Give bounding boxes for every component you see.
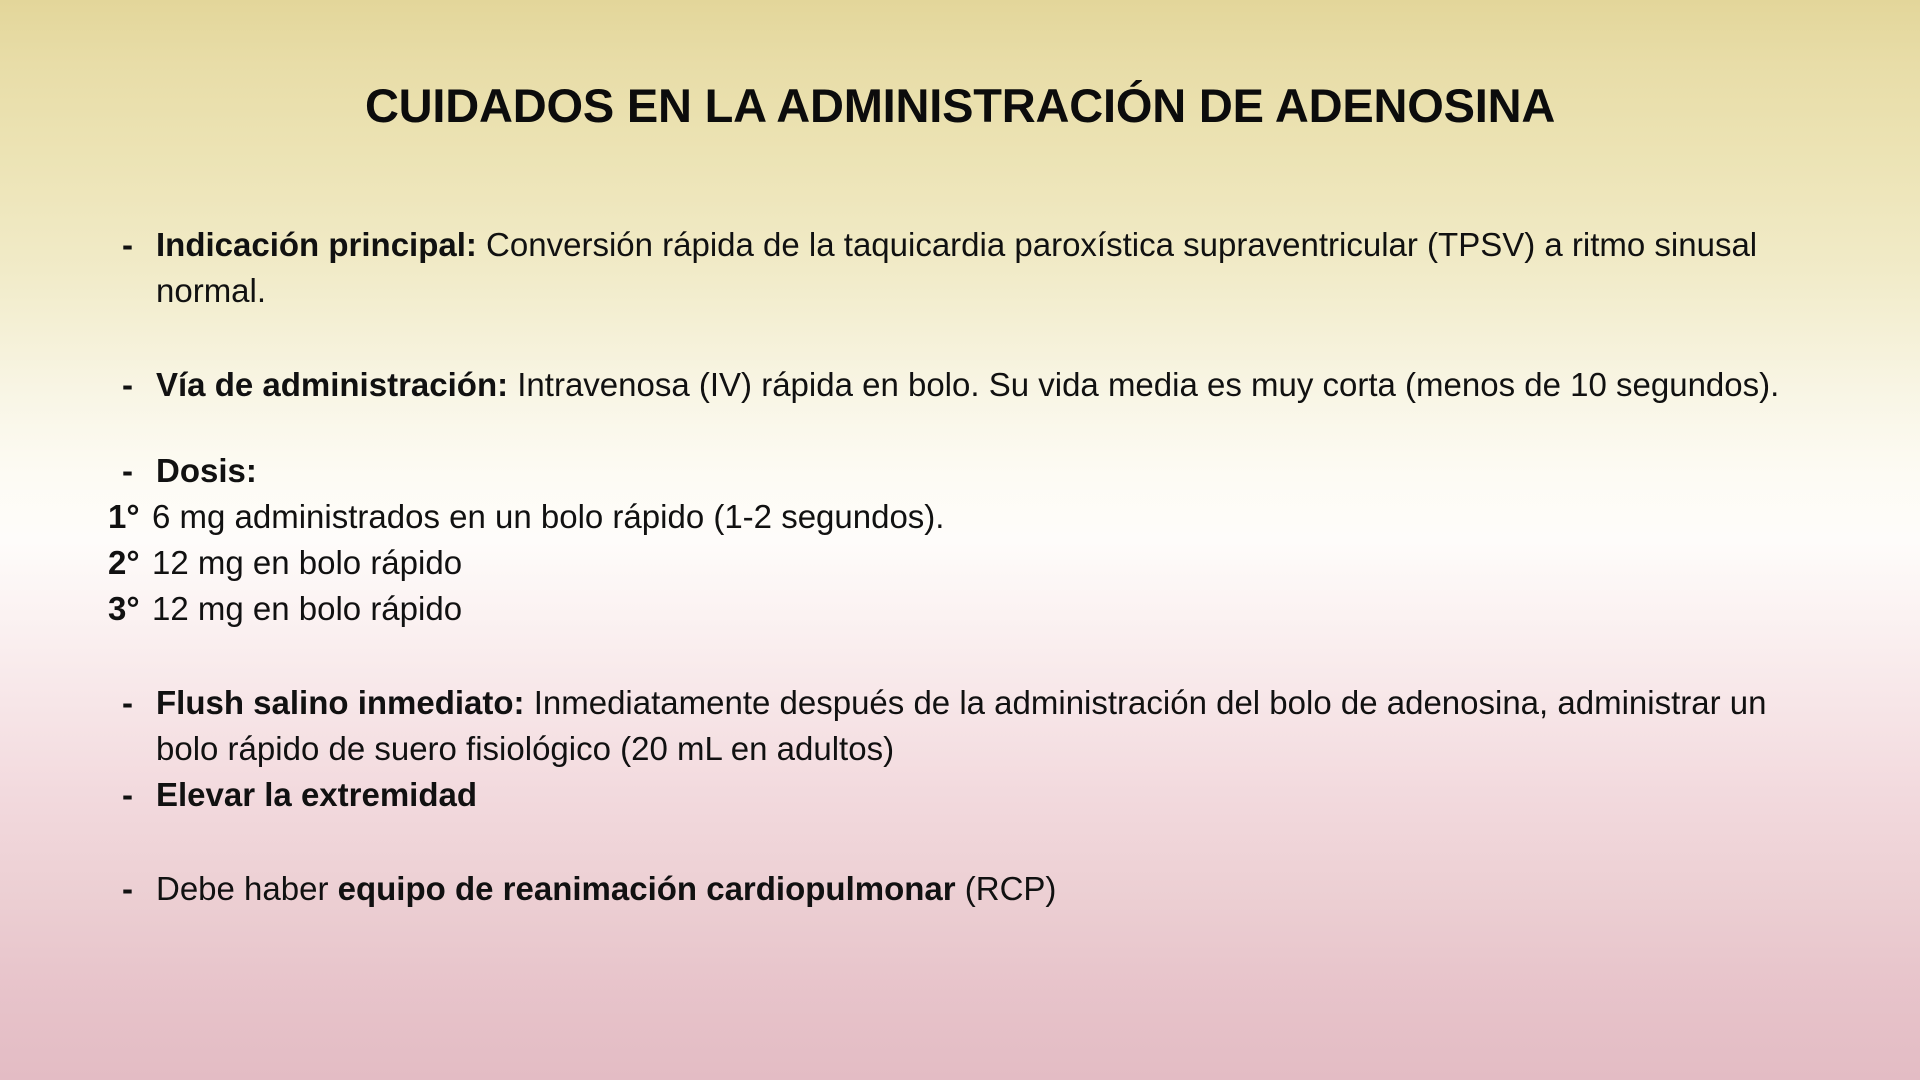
dose-item-2: 2° 12 mg en bolo rápido — [108, 540, 1838, 586]
spacer — [118, 408, 1838, 448]
bullet-via-body: Intravenosa (IV) rápida en bolo. Su vida… — [508, 366, 1779, 403]
bullet-flush-label: Flush salino inmediato: — [156, 684, 525, 721]
slide: CUIDADOS EN LA ADMINISTRACIÓN DE ADENOSI… — [0, 0, 1920, 1080]
bullet-indicacion-principal: - Indicación principal: Conversión rápid… — [118, 222, 1838, 314]
dose-number: 3° — [108, 586, 152, 632]
bullet-flush-salino: - Flush salino inmediato: Inmediatamente… — [118, 680, 1838, 772]
spacer — [118, 314, 1838, 362]
bullet-rcp: - Debe haber equipo de reanimación cardi… — [118, 866, 1838, 912]
bullet-elevar-label: Elevar la extremidad — [156, 776, 477, 813]
bullet-dosis-text: Dosis: — [156, 448, 1838, 494]
bullet-dash-icon: - — [118, 866, 156, 912]
dose-item-1: 1° 6 mg administrados en un bolo rápido … — [108, 494, 1838, 540]
bullet-via-label: Vía de administración: — [156, 366, 508, 403]
bullet-dosis-label: Dosis: — [156, 452, 257, 489]
bullet-dash-icon: - — [118, 222, 156, 268]
dose-number: 2° — [108, 540, 152, 586]
dose-description: 6 mg administrados en un bolo rápido (1-… — [152, 494, 1838, 540]
dose-item-3: 3° 12 mg en bolo rápido — [108, 586, 1838, 632]
bullet-indicacion-label: Indicación principal: — [156, 226, 477, 263]
bullet-dash-icon: - — [118, 680, 156, 726]
bullet-dash-icon: - — [118, 772, 156, 818]
spacer — [118, 818, 1838, 866]
bullet-via-text: Vía de administración: Intravenosa (IV) … — [156, 362, 1838, 408]
page-title: CUIDADOS EN LA ADMINISTRACIÓN DE ADENOSI… — [0, 78, 1920, 133]
spacer — [118, 632, 1838, 680]
bullet-rcp-text: Debe haber equipo de reanimación cardiop… — [156, 866, 1838, 912]
bullet-dash-icon: - — [118, 448, 156, 494]
dose-description: 12 mg en bolo rápido — [152, 586, 1838, 632]
dose-description: 12 mg en bolo rápido — [152, 540, 1838, 586]
bullet-indicacion-text: Indicación principal: Conversión rápida … — [156, 222, 1838, 314]
bullet-flush-text: Flush salino inmediato: Inmediatamente d… — [156, 680, 1838, 772]
bullet-dash-icon: - — [118, 362, 156, 408]
dose-number: 1° — [108, 494, 152, 540]
bullet-rcp-label: equipo de reanimación cardiopulmonar — [338, 870, 956, 907]
bullet-rcp-suffix: (RCP) — [956, 870, 1057, 907]
bullet-rcp-prefix: Debe haber — [156, 870, 338, 907]
slide-body: - Indicación principal: Conversión rápid… — [118, 222, 1838, 912]
bullet-elevar-extremidad: - Elevar la extremidad — [118, 772, 1838, 818]
bullet-elevar-text: Elevar la extremidad — [156, 772, 1838, 818]
bullet-via-administracion: - Vía de administración: Intravenosa (IV… — [118, 362, 1838, 408]
bullet-dosis: - Dosis: — [118, 448, 1838, 494]
